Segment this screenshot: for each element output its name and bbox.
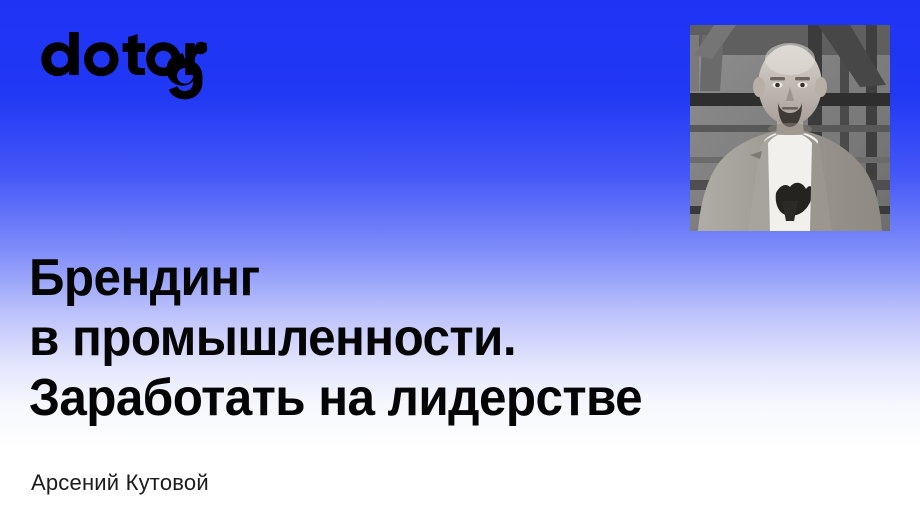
dotorg-logo[interactable] [33, 28, 208, 100]
speaker-name: Арсений Кутовой [31, 469, 209, 497]
presentation-slide: Брендинг в промышленности. Заработать на… [0, 0, 920, 522]
headline-line-1: Брендинг [29, 248, 827, 308]
headline-line-3: Заработать на лидерстве [29, 368, 827, 428]
headline-line-2: в промышленности. [29, 308, 827, 368]
speaker-portrait [690, 25, 890, 231]
dotorg-logo-icon [33, 28, 208, 100]
page-title: Брендинг в промышленности. Заработать на… [29, 248, 869, 428]
speaker-portrait-image [690, 25, 890, 231]
